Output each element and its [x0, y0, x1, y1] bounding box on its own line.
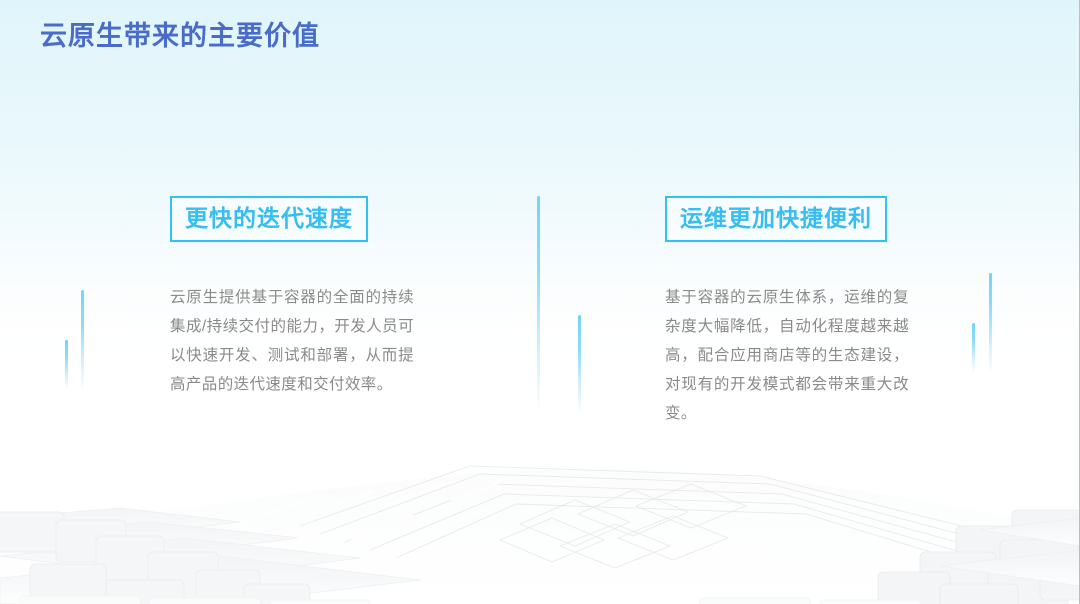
page-title: 云原生带来的主要价值 — [40, 20, 320, 54]
value-body-easier-ops: 基于容器的云原生体系，运维的复杂度大幅降低，自动化程度越来越高，配合应用商店等的… — [665, 283, 909, 428]
decor-vline-left-inner — [65, 340, 68, 390]
value-heading-easier-ops: 运维更加快捷便利 — [665, 196, 887, 242]
value-column-right: 运维更加快捷便利 基于容器的云原生体系，运维的复杂度大幅降低，自动化程度越来越高… — [665, 196, 915, 428]
abstract-cube-landscape-graphic — [0, 414, 1080, 604]
decor-vline-center-tall — [537, 196, 540, 414]
value-column-left: 更快的迭代速度 云原生提供基于容器的全面的持续集成/持续交付的能力，开发人员可以… — [170, 196, 420, 399]
decor-vline-left-outer — [81, 290, 84, 390]
value-heading-faster-iteration: 更快的迭代速度 — [170, 196, 368, 242]
slide-canvas: 云原生带来的主要价值 更快的迭代速度 云原生提供基于容器的全面的持续集成/持续交… — [0, 0, 1080, 604]
decor-vline-right-short — [972, 323, 975, 373]
decor-vline-right-tall — [989, 273, 992, 373]
decor-vline-center-short — [578, 315, 581, 415]
value-body-faster-iteration: 云原生提供基于容器的全面的持续集成/持续交付的能力，开发人员可以快速开发、测试和… — [170, 283, 414, 399]
